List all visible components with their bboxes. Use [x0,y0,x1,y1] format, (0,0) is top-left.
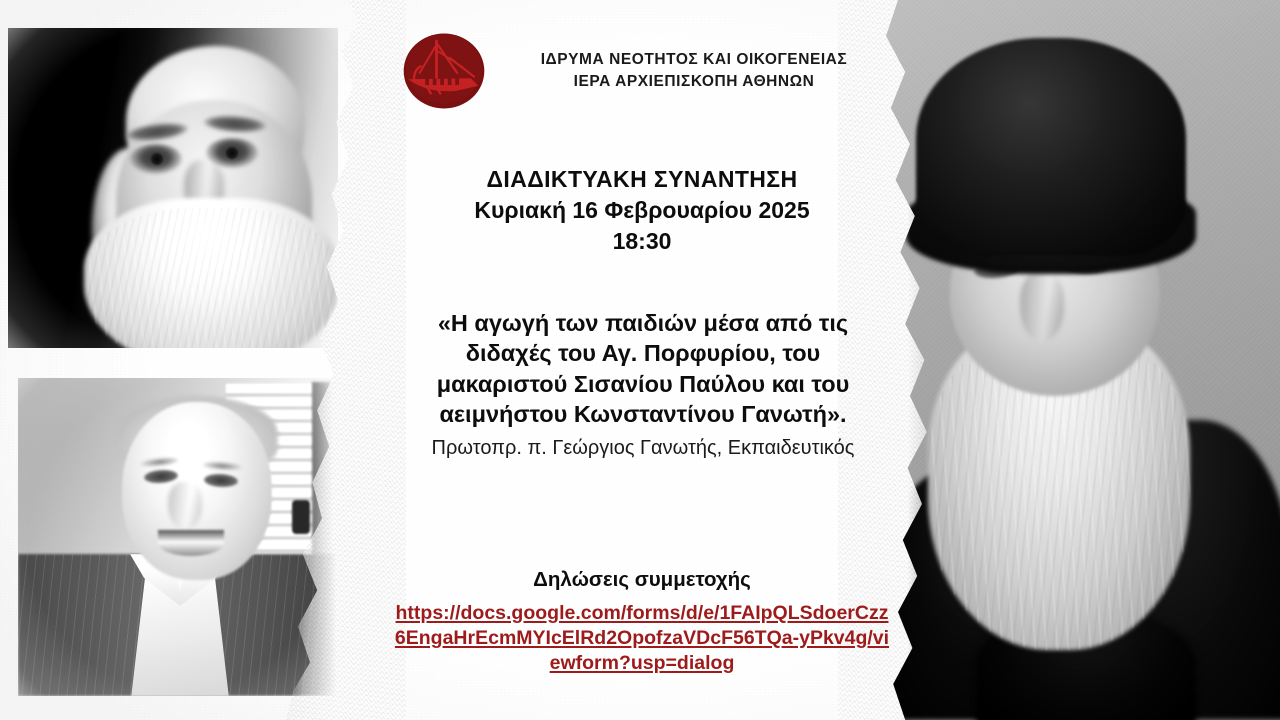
organization-header: ΙΔΡΥΜΑ ΝΕΟΤΗΤΟΣ ΚΑΙ ΟΙΚΟΓΕΝΕΙΑΣ ΙΕΡΑ ΑΡΧ… [392,26,892,116]
portrait-elder-porphyrios [8,28,338,348]
event-poster: ΙΔΡΥΜΑ ΝΕΟΤΗΤΟΣ ΚΑΙ ΟΙΚΟΓΕΝΕΙΑΣ ΙΕΡΑ ΑΡΧ… [0,0,1280,720]
event-date: Κυριακή 16 Φεβρουαρίου 2025 [392,195,892,226]
ship-emblem-icon [396,26,492,116]
organization-line-2: ΙΕΡΑ ΑΡΧΙΕΠΙΣΚΟΠΗ ΑΘΗΝΩΝ [496,71,892,93]
registration-block: Δηλώσεις συμμετοχής https://docs.google.… [392,566,892,676]
event-kind: ΔΙΑΔΙΚΤΥΑΚΗ ΣΥΝΑΝΤΗΣΗ [392,165,892,195]
left-photo-column [0,0,350,720]
center-content: ΙΔΡΥΜΑ ΝΕΟΤΗΤΟΣ ΚΑΙ ΟΙΚΟΓΕΝΕΙΑΣ ΙΕΡΑ ΑΡΧ… [392,0,892,720]
organization-names: ΙΔΡΥΜΑ ΝΕΟΤΗΤΟΣ ΚΑΙ ΟΙΚΟΓΕΝΕΙΑΣ ΙΕΡΑ ΑΡΧ… [492,49,892,94]
portrait-monk-with-skoufos [880,0,1280,720]
organization-line-1: ΙΔΡΥΜΑ ΝΕΟΤΗΤΟΣ ΚΑΙ ΟΙΚΟΓΕΝΕΙΑΣ [496,49,892,71]
talk-title: «Η αγωγή των παιδιών μέσα από τις διδαχέ… [398,308,888,429]
registration-link[interactable]: https://docs.google.com/forms/d/e/1FAIpQ… [392,601,892,676]
talk-block: «Η αγωγή των παιδιών μέσα από τις διδαχέ… [398,308,888,461]
event-time: 18:30 [392,226,892,257]
talk-speaker: Πρωτοπρ. π. Γεώργιος Γανωτής, Εκπαιδευτι… [398,435,888,461]
portrait-konstantinos-ganotis [18,378,340,696]
registration-label: Δηλώσεις συμμετοχής [392,566,892,595]
event-details: ΔΙΑΔΙΚΤΥΑΚΗ ΣΥΝΑΝΤΗΣΗ Κυριακή 16 Φεβρουα… [392,165,892,257]
